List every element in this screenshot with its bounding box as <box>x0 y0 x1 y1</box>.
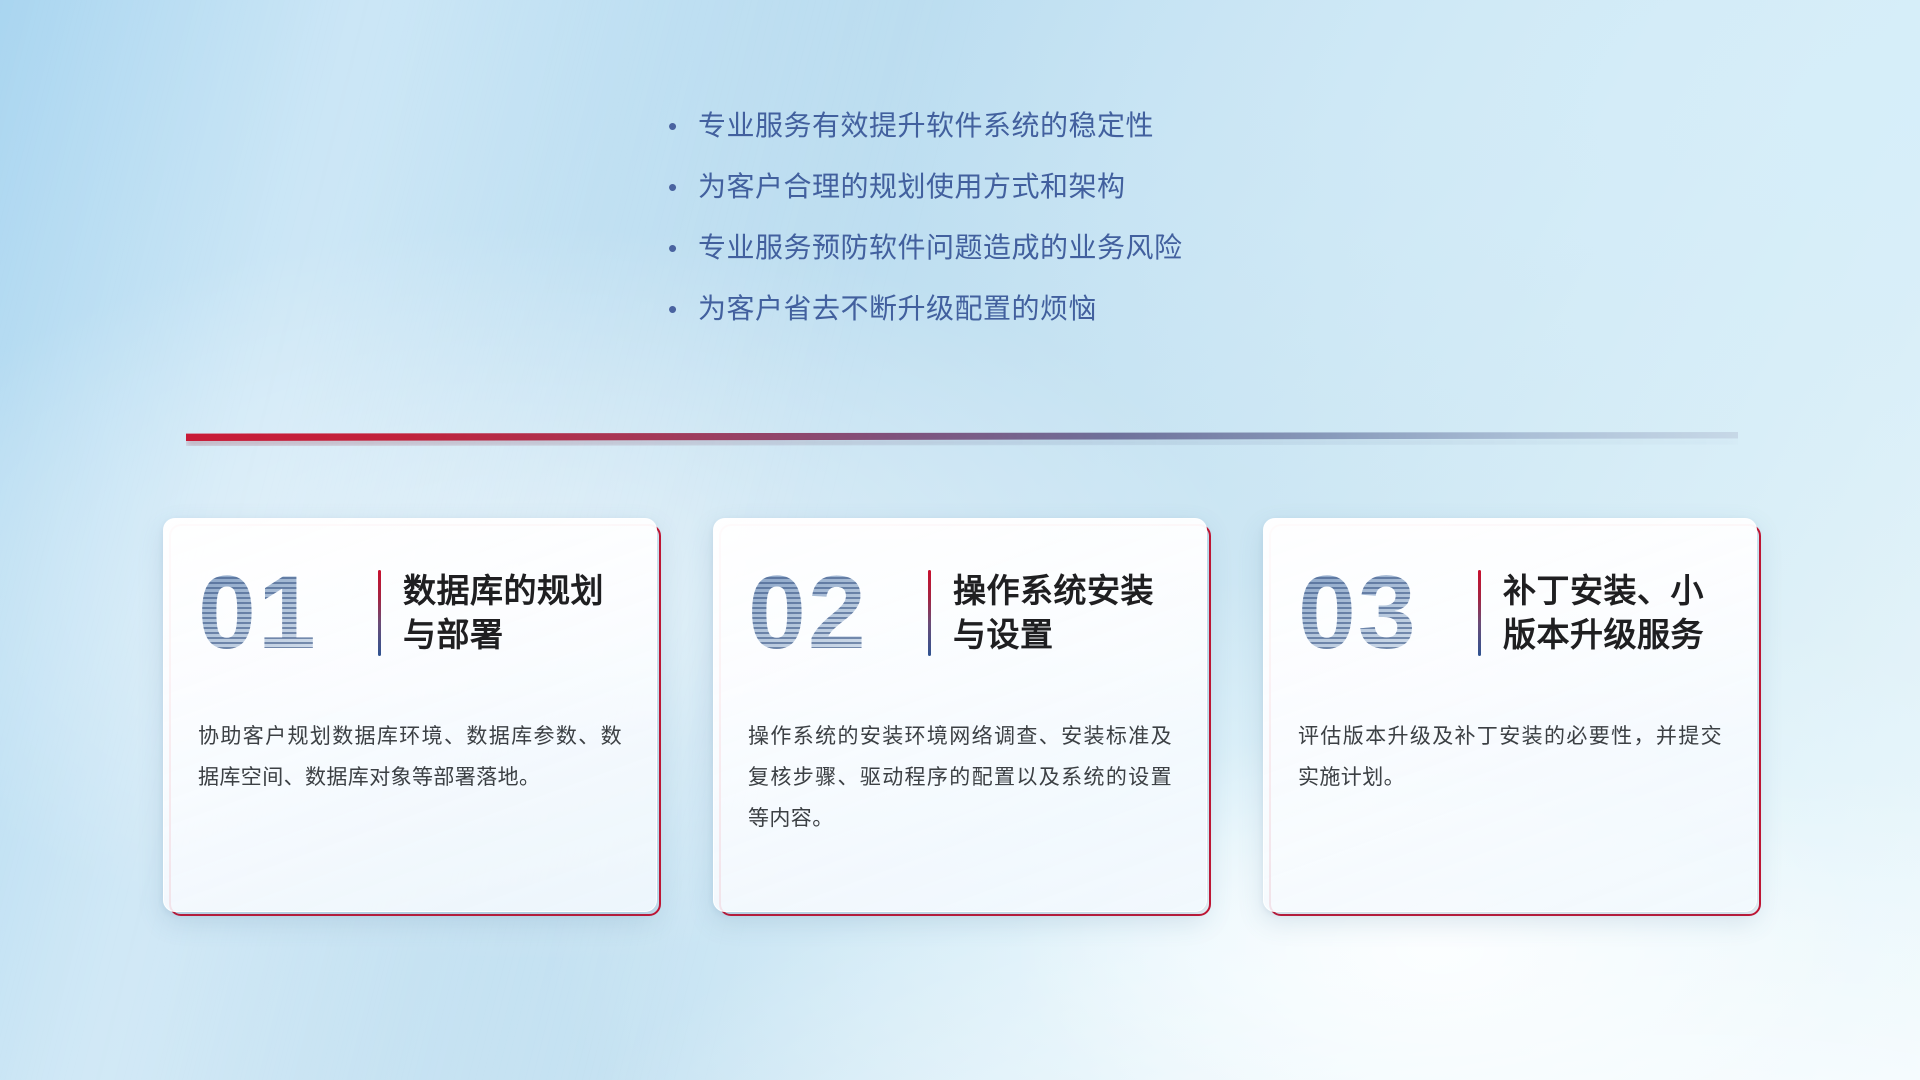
card-header: 03 补丁安装、小版本升级服务 <box>1298 555 1722 671</box>
card-number-watermark: 02 <box>748 557 926 669</box>
accent-divider-bar <box>186 432 1738 441</box>
service-card-row: 01 数据库的规划与部署 协助客户规划数据库环境、数据库参数、数据库空间、数据库… <box>0 518 1920 912</box>
bullet-text: 专业服务有效提升软件系统的稳定性 <box>698 108 1154 143</box>
card-divider-bar <box>928 570 931 656</box>
bullet-dot-icon: • <box>668 113 698 139</box>
card-number-watermark: 03 <box>1298 557 1476 669</box>
card-title: 补丁安装、小版本升级服务 <box>1503 569 1722 656</box>
service-card-03[interactable]: 03 补丁安装、小版本升级服务 评估版本升级及补丁安装的必要性，并提交实施计划。 <box>1263 518 1757 912</box>
list-item: • 为客户合理的规划使用方式和架构 <box>668 169 1428 204</box>
service-card-02[interactable]: 02 操作系统安装与设置 操作系统的安装环境网络调查、安装标准及复核步骤、驱动程… <box>713 518 1207 912</box>
list-item: • 专业服务有效提升软件系统的稳定性 <box>668 108 1428 143</box>
card-panel: 02 操作系统安装与设置 操作系统的安装环境网络调查、安装标准及复核步骤、驱动程… <box>713 518 1207 912</box>
bullet-text: 为客户省去不断升级配置的烦恼 <box>698 291 1097 326</box>
card-description: 操作系统的安装环境网络调查、安装标准及复核步骤、驱动程序的配置以及系统的设置等内… <box>748 717 1172 840</box>
service-card-01[interactable]: 01 数据库的规划与部署 协助客户规划数据库环境、数据库参数、数据库空间、数据库… <box>163 518 657 912</box>
slide-stage: • 专业服务有效提升软件系统的稳定性 • 为客户合理的规划使用方式和架构 • 专… <box>0 0 1920 1080</box>
card-number-watermark: 01 <box>198 557 376 669</box>
card-title: 操作系统安装与设置 <box>953 569 1172 656</box>
bullet-dot-icon: • <box>668 174 698 200</box>
card-panel: 01 数据库的规划与部署 协助客户规划数据库环境、数据库参数、数据库空间、数据库… <box>163 518 657 912</box>
card-divider-bar <box>378 570 381 656</box>
bullet-text: 为客户合理的规划使用方式和架构 <box>698 169 1126 204</box>
benefits-bullet-list: • 专业服务有效提升软件系统的稳定性 • 为客户合理的规划使用方式和架构 • 专… <box>668 108 1428 352</box>
list-item: • 专业服务预防软件问题造成的业务风险 <box>668 230 1428 265</box>
accent-divider-line <box>186 432 1738 441</box>
bullet-dot-icon: • <box>668 235 698 261</box>
card-panel: 03 补丁安装、小版本升级服务 评估版本升级及补丁安装的必要性，并提交实施计划。 <box>1263 518 1757 912</box>
card-header: 02 操作系统安装与设置 <box>748 555 1172 671</box>
card-divider-bar <box>1478 570 1481 656</box>
bullet-dot-icon: • <box>668 296 698 322</box>
card-description: 协助客户规划数据库环境、数据库参数、数据库空间、数据库对象等部署落地。 <box>198 717 622 799</box>
accent-divider-shadow <box>186 439 1738 446</box>
list-item: • 为客户省去不断升级配置的烦恼 <box>668 291 1428 326</box>
card-description: 评估版本升级及补丁安装的必要性，并提交实施计划。 <box>1298 717 1722 799</box>
bullet-text: 专业服务预防软件问题造成的业务风险 <box>698 230 1183 265</box>
card-title: 数据库的规划与部署 <box>403 569 622 656</box>
card-header: 01 数据库的规划与部署 <box>198 555 622 671</box>
